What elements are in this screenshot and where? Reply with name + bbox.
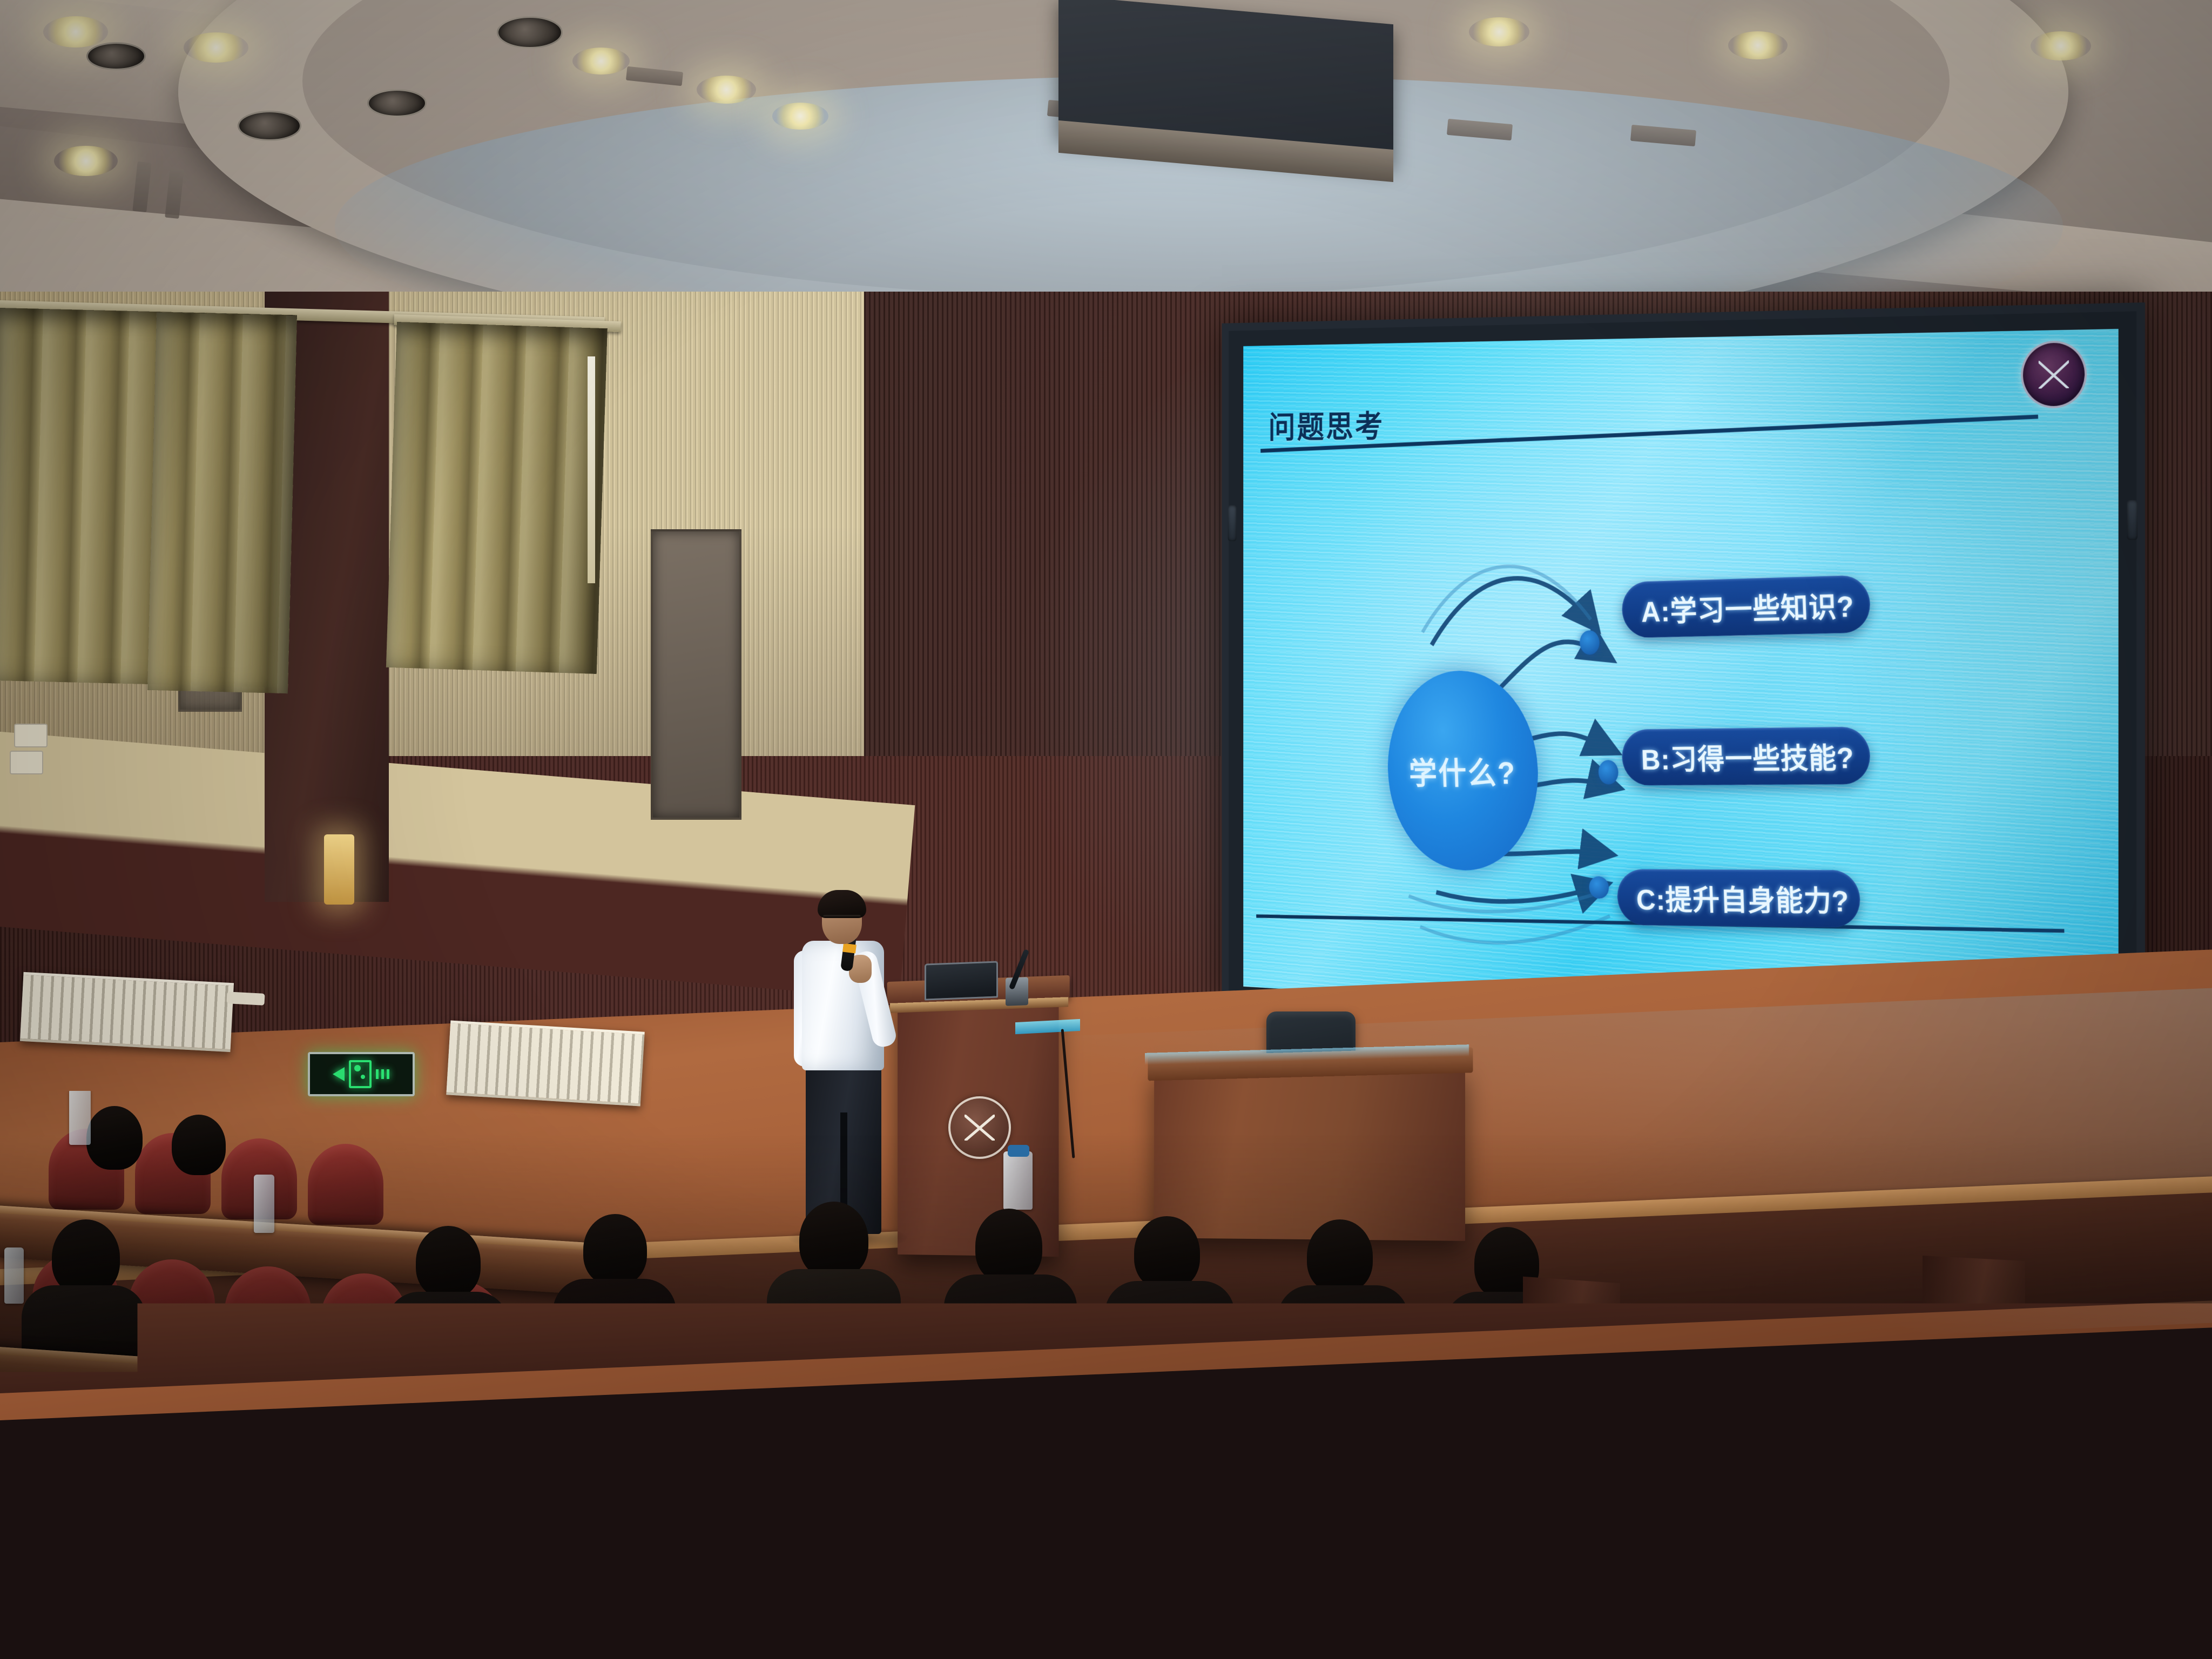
- audience-member-shoulders: [127, 1461, 278, 1559]
- screen-side-control[interactable]: [2127, 500, 2137, 540]
- window-curtain-center: [147, 312, 297, 693]
- slide-option-b: B:习得一些技能?: [1621, 726, 1871, 785]
- connector-node-dot: [1580, 630, 1599, 655]
- aisle-partition-post: [1923, 1256, 2025, 1493]
- audience-member-shoulders: [1559, 1495, 1710, 1593]
- lecture-hall-photo: 问题思考 学什么? A:学习一些知识? B:习得一些技能? C:提升自身能力? …: [0, 0, 2212, 1659]
- theater-seat[interactable]: [1858, 1508, 1950, 1594]
- screen-side-control[interactable]: [1228, 505, 1237, 541]
- smartphone-on-desk[interactable]: [852, 1526, 917, 1565]
- audience-member-head: [701, 1389, 781, 1480]
- running-person-icon: [349, 1060, 372, 1088]
- exit-sign: [308, 1052, 415, 1096]
- audience-member-head: [416, 1226, 481, 1298]
- slide-option-a: A:学习一些知识?: [1621, 575, 1871, 638]
- audience-member-head: [1307, 1219, 1373, 1293]
- ceiling-downlight-icon: [54, 146, 118, 176]
- ceiling-downlight-off-icon: [238, 111, 301, 141]
- theater-seat[interactable]: [225, 1266, 311, 1355]
- ceiling-downlight-off-icon: [367, 89, 427, 117]
- watermark-university-emblem-icon: [1993, 1584, 2058, 1649]
- slide-title: 问题思考: [1269, 402, 1385, 447]
- water-bottle: [728, 1636, 755, 1659]
- ceiling-downlight-icon: [1728, 31, 1788, 59]
- water-bottle: [254, 1175, 274, 1233]
- microphone-band: [842, 943, 857, 954]
- audience-member-shoulders: [484, 1460, 636, 1560]
- window-curtain-right: [386, 322, 608, 674]
- audience-member-head: [1237, 1403, 1317, 1493]
- wall-socket: [10, 751, 43, 774]
- audience-member-head: [1134, 1216, 1200, 1290]
- theater-seat[interactable]: [1755, 1501, 1847, 1588]
- water-bottle: [4, 1247, 24, 1304]
- radiator-left: [20, 972, 234, 1052]
- audience-member-shoulders: [1202, 1481, 1353, 1579]
- audience-member-head: [799, 1202, 868, 1278]
- ceiling-downlight-icon: [572, 48, 630, 75]
- ceiling-downlight-off-icon: [86, 42, 146, 70]
- audience-member-head: [583, 1214, 647, 1285]
- water-bottle: [69, 1091, 91, 1145]
- audience-member-shoulders: [666, 1469, 818, 1568]
- acoustic-panel-recess: [651, 529, 741, 820]
- audience-member-head: [788, 1572, 891, 1659]
- audience-member-shoulders: [309, 1471, 458, 1569]
- slide-option-c-label: C:提升自身能力?: [1636, 876, 1850, 920]
- audience-member-head: [1339, 1577, 1442, 1659]
- audience-member-head: [172, 1115, 226, 1175]
- audience-member-shoulders: [387, 1292, 509, 1373]
- watermark-text: 新闻网: [2067, 1587, 2200, 1647]
- audience-member-shoulders: [1278, 1285, 1408, 1373]
- audience-seating-area: [0, 1091, 2212, 1659]
- audience-member-head: [975, 1209, 1042, 1283]
- connector-node-dot: [1599, 760, 1618, 785]
- ceiling-downlight-icon: [184, 32, 248, 63]
- audience-member-shoulders: [1380, 1487, 1532, 1586]
- ceiling-downlight-icon: [2031, 31, 2091, 60]
- audience-member-head: [52, 1219, 120, 1295]
- ceiling-downlight-icon: [772, 103, 828, 130]
- wall-socket: [14, 724, 48, 747]
- aisle-partition-post: [1523, 1277, 1620, 1510]
- projection-screen-frame: 问题思考 学什么? A:学习一些知识? B:习得一些技能? C:提升自身能力? …: [1222, 302, 2145, 1065]
- audience-member-head: [162, 1382, 243, 1473]
- theater-seat[interactable]: [5, 1415, 103, 1512]
- audience-member-head: [1415, 1410, 1495, 1499]
- ceiling-downlight-icon: [697, 76, 756, 104]
- ceiling-downlight-icon: [1469, 17, 1529, 46]
- slide-option-b-label: B:习得一些技能?: [1640, 734, 1854, 778]
- ceiling-downlight-off-icon: [497, 16, 563, 49]
- wall-sconce-light: [324, 834, 354, 905]
- exit-text-icon: [376, 1069, 390, 1079]
- slide-option-a-label: A:学习一些知识?: [1640, 583, 1854, 630]
- audience-member-head: [86, 1106, 143, 1170]
- speaker-hair: [818, 890, 866, 918]
- audience-member-shoulders: [553, 1279, 676, 1365]
- audience-member-head: [1060, 1398, 1139, 1487]
- exit-arrow-icon: [333, 1067, 345, 1081]
- audience-member-head: [1566, 1588, 1667, 1659]
- audience-member-head: [878, 1393, 958, 1483]
- projection-screen: 问题思考 学什么? A:学习一些知识? B:习得一些技能? C:提升自身能力? …: [1243, 329, 2119, 1040]
- eyeglasses-icon: [823, 915, 861, 924]
- podium-laptop[interactable]: [925, 961, 998, 1000]
- slide-option-c: C:提升自身能力?: [1616, 869, 1861, 928]
- slide-center-node-label: 学什么?: [1408, 747, 1517, 793]
- audience-member-head: [343, 1393, 423, 1483]
- window-light-gap: [588, 356, 595, 583]
- ceiling-downlight-icon: [43, 16, 108, 48]
- radiator-valve: [226, 992, 265, 1006]
- theater-seat[interactable]: [308, 1144, 383, 1225]
- audience-member-head: [518, 1380, 599, 1472]
- watermark: 新闻网: [1993, 1584, 2200, 1649]
- connector-node-dot: [1589, 876, 1609, 899]
